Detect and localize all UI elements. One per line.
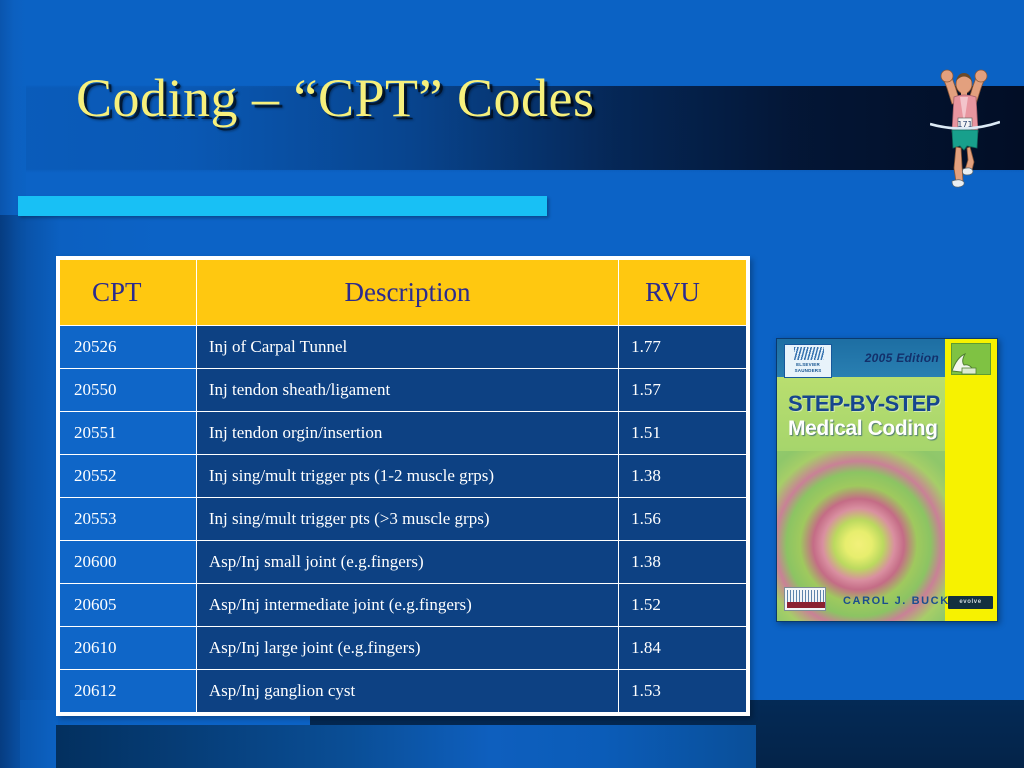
cell-rvu: 1.53 bbox=[619, 670, 747, 713]
cell-rvu: 1.38 bbox=[619, 455, 747, 498]
cell-rvu: 1.77 bbox=[619, 326, 747, 369]
column-header-rvu: RVU bbox=[619, 260, 747, 326]
book-author: CAROL J. BUCK bbox=[843, 595, 950, 607]
cell-description: Asp/Inj ganglion cyst bbox=[196, 670, 618, 713]
cell-rvu: 1.84 bbox=[619, 627, 747, 670]
cpt-table: CPT Description RVU 20526Inj of Carpal T… bbox=[56, 256, 750, 716]
book-edition-label: 2005 Edition bbox=[865, 351, 939, 365]
table-header-row: CPT Description RVU bbox=[60, 260, 747, 326]
cell-rvu: 1.52 bbox=[619, 584, 747, 627]
cell-description: Asp/Inj small joint (e.g.fingers) bbox=[196, 541, 618, 584]
page-title: Coding – “CPT” Codes bbox=[76, 70, 595, 127]
cell-cpt: 20605 bbox=[60, 584, 197, 627]
book-cover-image: ELSEVIER SAUNDERS 2005 Edition STEP-BY-S… bbox=[776, 338, 998, 622]
cell-rvu: 1.38 bbox=[619, 541, 747, 584]
cell-cpt: 20612 bbox=[60, 670, 197, 713]
book-cd-sticker bbox=[784, 587, 826, 611]
runner-icon: 171 bbox=[930, 62, 1000, 190]
accent-bar bbox=[18, 196, 547, 216]
bottom-left-nub bbox=[20, 700, 58, 768]
table-row: 20526Inj of Carpal Tunnel1.77 bbox=[60, 326, 747, 369]
table-row: 20553Inj sing/mult trigger pts (>3 muscl… bbox=[60, 498, 747, 541]
cell-cpt: 20552 bbox=[60, 455, 197, 498]
cell-description: Asp/Inj intermediate joint (e.g.fingers) bbox=[196, 584, 618, 627]
cell-cpt: 20551 bbox=[60, 412, 197, 455]
cell-cpt: 20553 bbox=[60, 498, 197, 541]
cell-rvu: 1.51 bbox=[619, 412, 747, 455]
bottom-gradient-bar bbox=[56, 725, 756, 768]
elsevier-mark bbox=[794, 347, 824, 360]
cell-description: Inj tendon sheath/ligament bbox=[196, 369, 618, 412]
table-row: 20600Asp/Inj small joint (e.g.fingers)1.… bbox=[60, 541, 747, 584]
evolve-badge: evolve bbox=[948, 596, 993, 609]
column-header-description: Description bbox=[196, 260, 618, 326]
table-row: 20612Asp/Inj ganglion cyst1.53 bbox=[60, 670, 747, 713]
cell-description: Inj tendon orgin/insertion bbox=[196, 412, 618, 455]
book-title-line2: Medical Coding bbox=[788, 417, 944, 441]
book-cd-bar bbox=[787, 602, 825, 608]
column-header-cpt: CPT bbox=[60, 260, 197, 326]
table-row: 20610Asp/Inj large joint (e.g.fingers)1.… bbox=[60, 627, 747, 670]
publisher-logo: ELSEVIER SAUNDERS bbox=[784, 344, 832, 378]
cell-cpt: 20610 bbox=[60, 627, 197, 670]
book-corner-icon bbox=[951, 343, 991, 375]
cell-cpt: 20550 bbox=[60, 369, 197, 412]
cell-description: Inj sing/mult trigger pts (>3 muscle grp… bbox=[196, 498, 618, 541]
cell-cpt: 20600 bbox=[60, 541, 197, 584]
cell-description: Asp/Inj large joint (e.g.fingers) bbox=[196, 627, 618, 670]
cell-rvu: 1.57 bbox=[619, 369, 747, 412]
cell-description: Inj sing/mult trigger pts (1-2 muscle gr… bbox=[196, 455, 618, 498]
table-row: 20605Asp/Inj intermediate joint (e.g.fin… bbox=[60, 584, 747, 627]
cell-rvu: 1.56 bbox=[619, 498, 747, 541]
table-row: 20550Inj tendon sheath/ligament1.57 bbox=[60, 369, 747, 412]
table-row: 20551Inj tendon orgin/insertion1.51 bbox=[60, 412, 747, 455]
cell-cpt: 20526 bbox=[60, 326, 197, 369]
slide-canvas: Coding – “CPT” Codes 171 bbox=[0, 0, 1024, 768]
book-yellow-strip bbox=[945, 377, 997, 622]
table-row: 20552Inj sing/mult trigger pts (1-2 musc… bbox=[60, 455, 747, 498]
book-title-line1: STEP-BY-STEP bbox=[788, 391, 944, 417]
cell-description: Inj of Carpal Tunnel bbox=[196, 326, 618, 369]
